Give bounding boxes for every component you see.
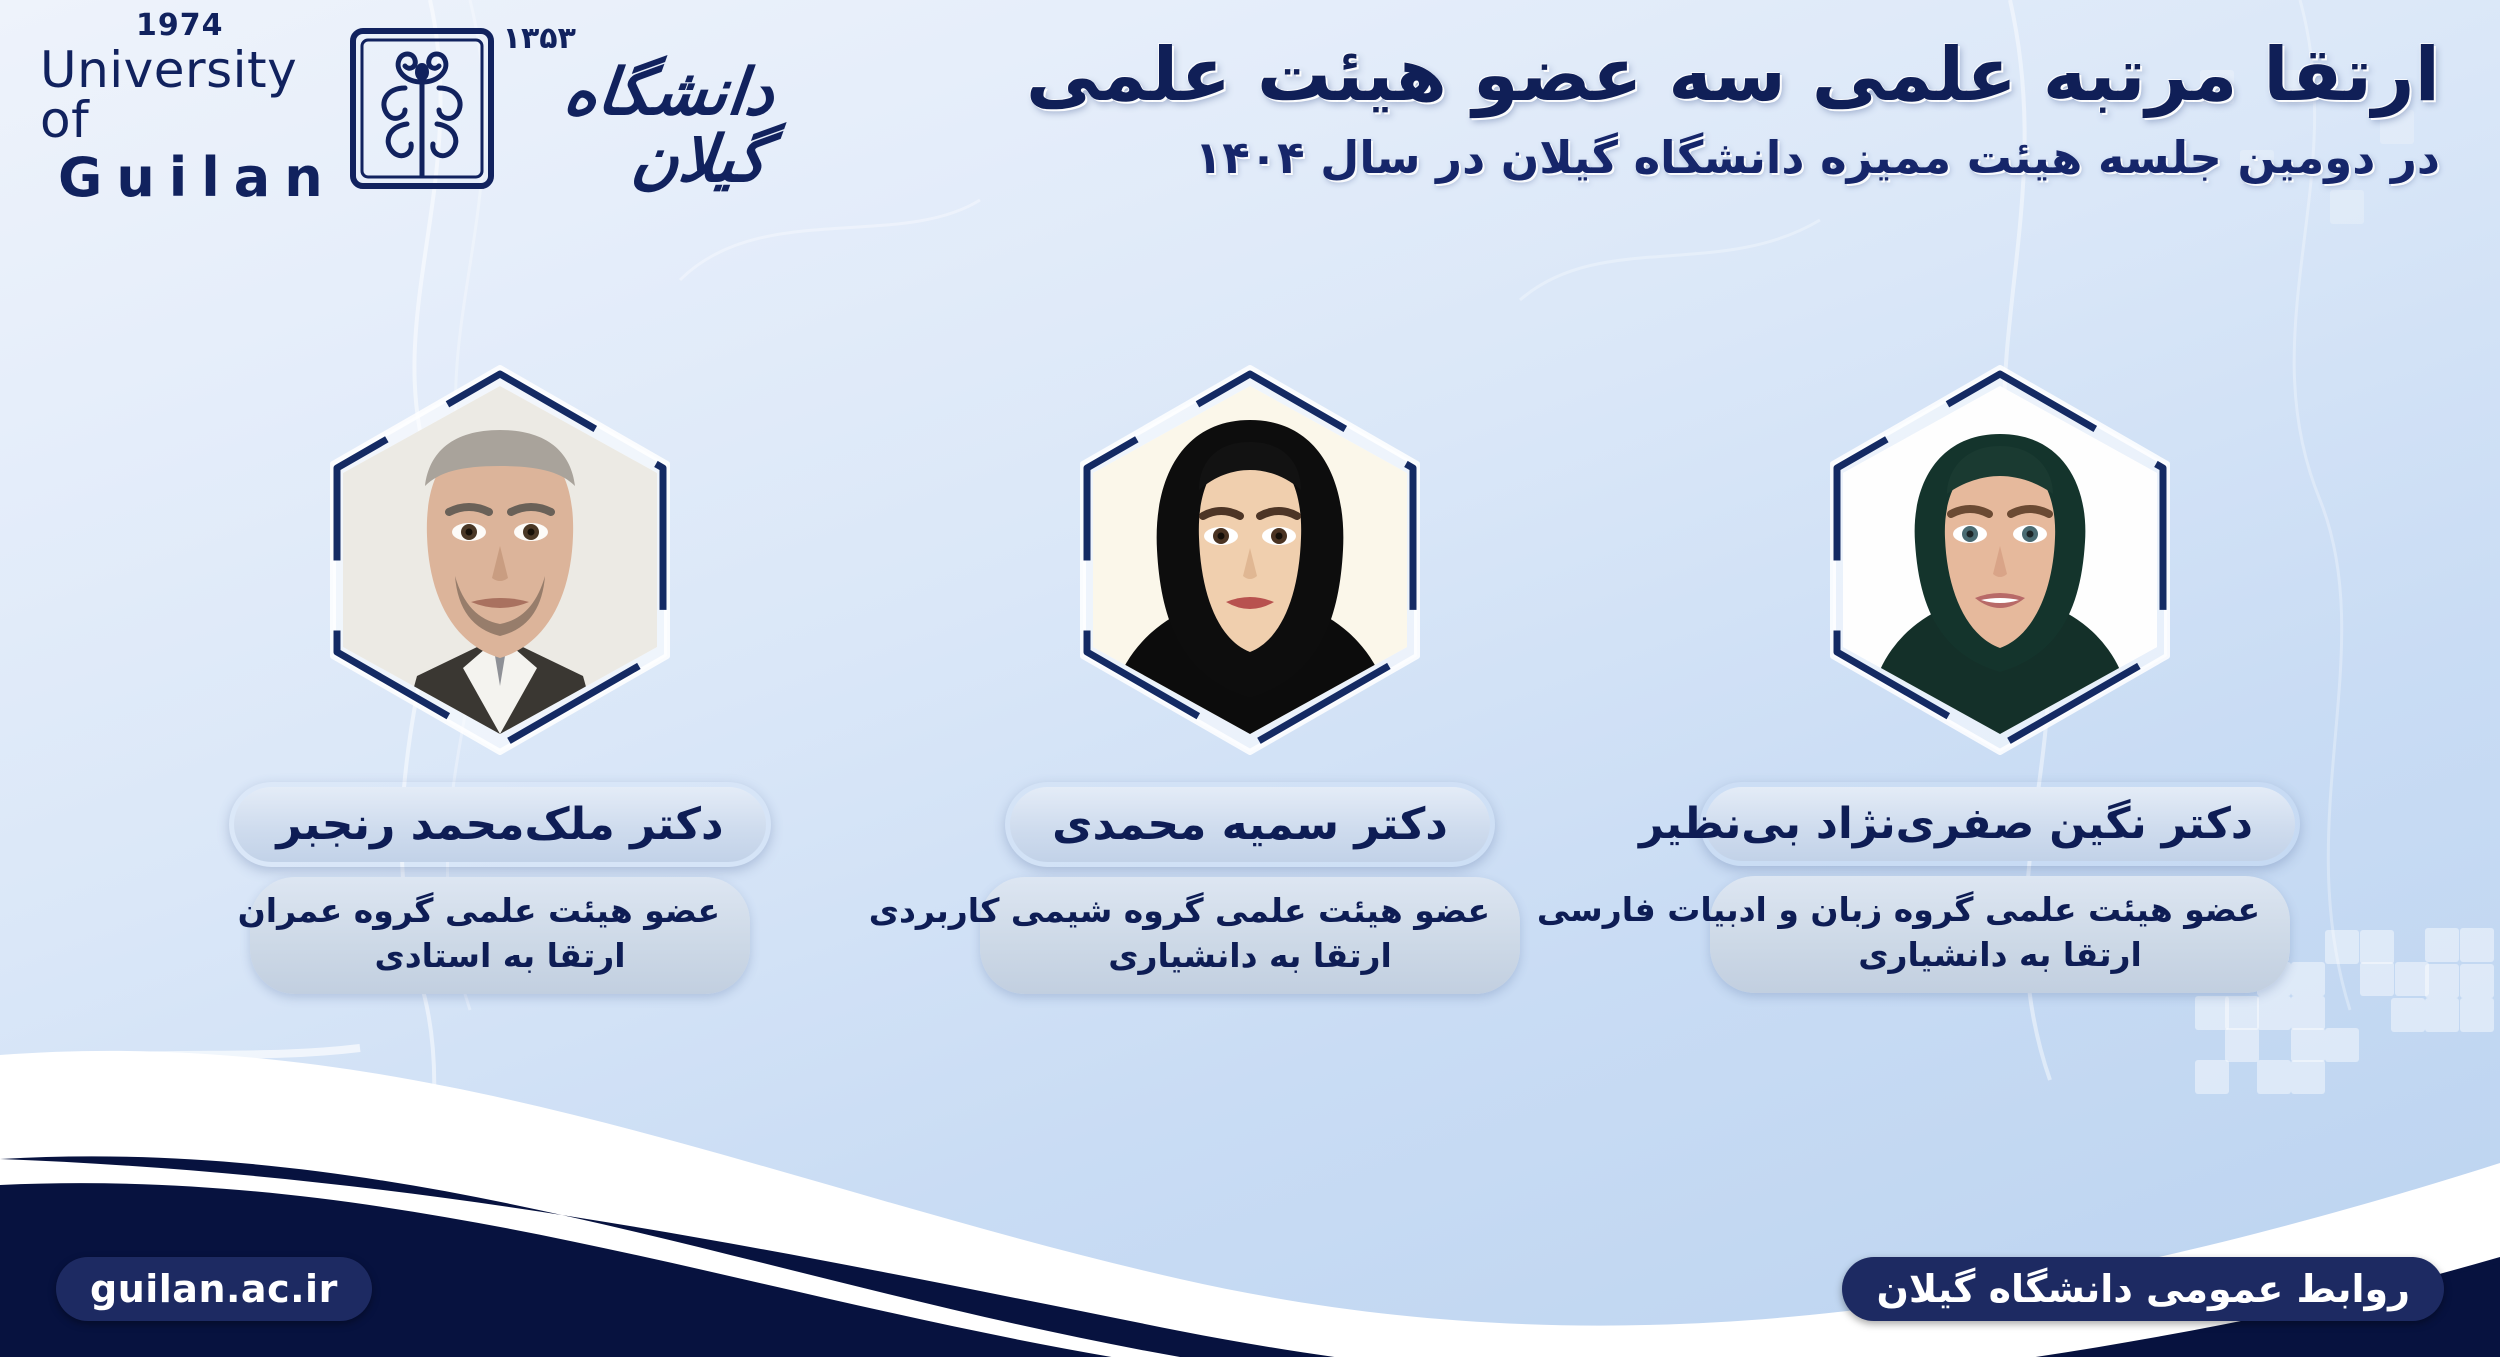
logo-english-block: 1974 University of Guilan (40, 11, 337, 205)
logo-founding-year-fa: ۱۳۵۳ (503, 21, 576, 56)
photo-frame (1065, 360, 1435, 760)
faculty-name: دکتر سمیه محمدی (1052, 799, 1448, 850)
announcement-poster: 1974 University of Guilan ۱۳۵۳ دانشگاه گ… (0, 0, 2500, 1357)
public-relations-label: روابط عمومی دانشگاه گیلان (1876, 1267, 2410, 1311)
faculty-name: دکتر ملک‌محمد رنجبر (276, 799, 723, 850)
page-title: ارتقا مرتبه علمی سه عضو هیئت علمی (1026, 34, 2440, 117)
logo-guilan-word: Guilan (58, 151, 337, 205)
university-logo: 1974 University of Guilan ۱۳۵۳ دانشگاه گ… (40, 18, 770, 198)
headline-block: ارتقا مرتبه علمی سه عضو هیئت علمی در دوم… (1026, 34, 2440, 184)
logo-university-name-fa: دانشگاه گیلان (496, 60, 777, 194)
photo-frame (1815, 360, 2185, 760)
page-subtitle: در دومین جلسه هیئت ممیزه دانشگاه گیلان د… (1026, 131, 2440, 184)
logo-founding-year-en: 1974 (136, 11, 224, 41)
website-url: guilan.ac.ir (90, 1267, 338, 1311)
faculty-name-badge: دکتر نگین صفری‌نژاد بی‌نظیر (1700, 782, 2300, 866)
guilan-university-emblem-icon (347, 26, 497, 191)
photo-frame (315, 360, 685, 760)
faculty-card: دکتر سمیه محمدی عضو هیئت علمی گروه شیمی … (950, 360, 1550, 994)
public-relations-badge: روابط عمومی دانشگاه گیلان (1842, 1257, 2444, 1321)
faculty-name: دکتر نگین صفری‌نژاد بی‌نظیر (1639, 799, 2253, 849)
faculty-card: دکتر نگین صفری‌نژاد بی‌نظیر عضو هیئت علم… (1700, 360, 2300, 993)
faculty-name-badge: دکتر سمیه محمدی (1005, 782, 1495, 867)
logo-persian-block: ۱۳۵۳ دانشگاه گیلان (503, 21, 770, 194)
logo-university-word: University of (40, 45, 337, 145)
faculty-card: دکتر ملک‌محمد رنجبر عضو هیئت علمی گروه ع… (200, 360, 800, 994)
faculty-list: دکتر نگین صفری‌نژاد بی‌نظیر عضو هیئت علم… (0, 360, 2500, 994)
website-url-badge[interactable]: guilan.ac.ir (56, 1257, 372, 1321)
faculty-department: عضو هیئت علمی گروه زبان و ادبیات فارسی (1740, 888, 2260, 933)
poster-header: 1974 University of Guilan ۱۳۵۳ دانشگاه گ… (0, 0, 2500, 270)
faculty-name-badge: دکتر ملک‌محمد رنجبر (229, 782, 770, 867)
